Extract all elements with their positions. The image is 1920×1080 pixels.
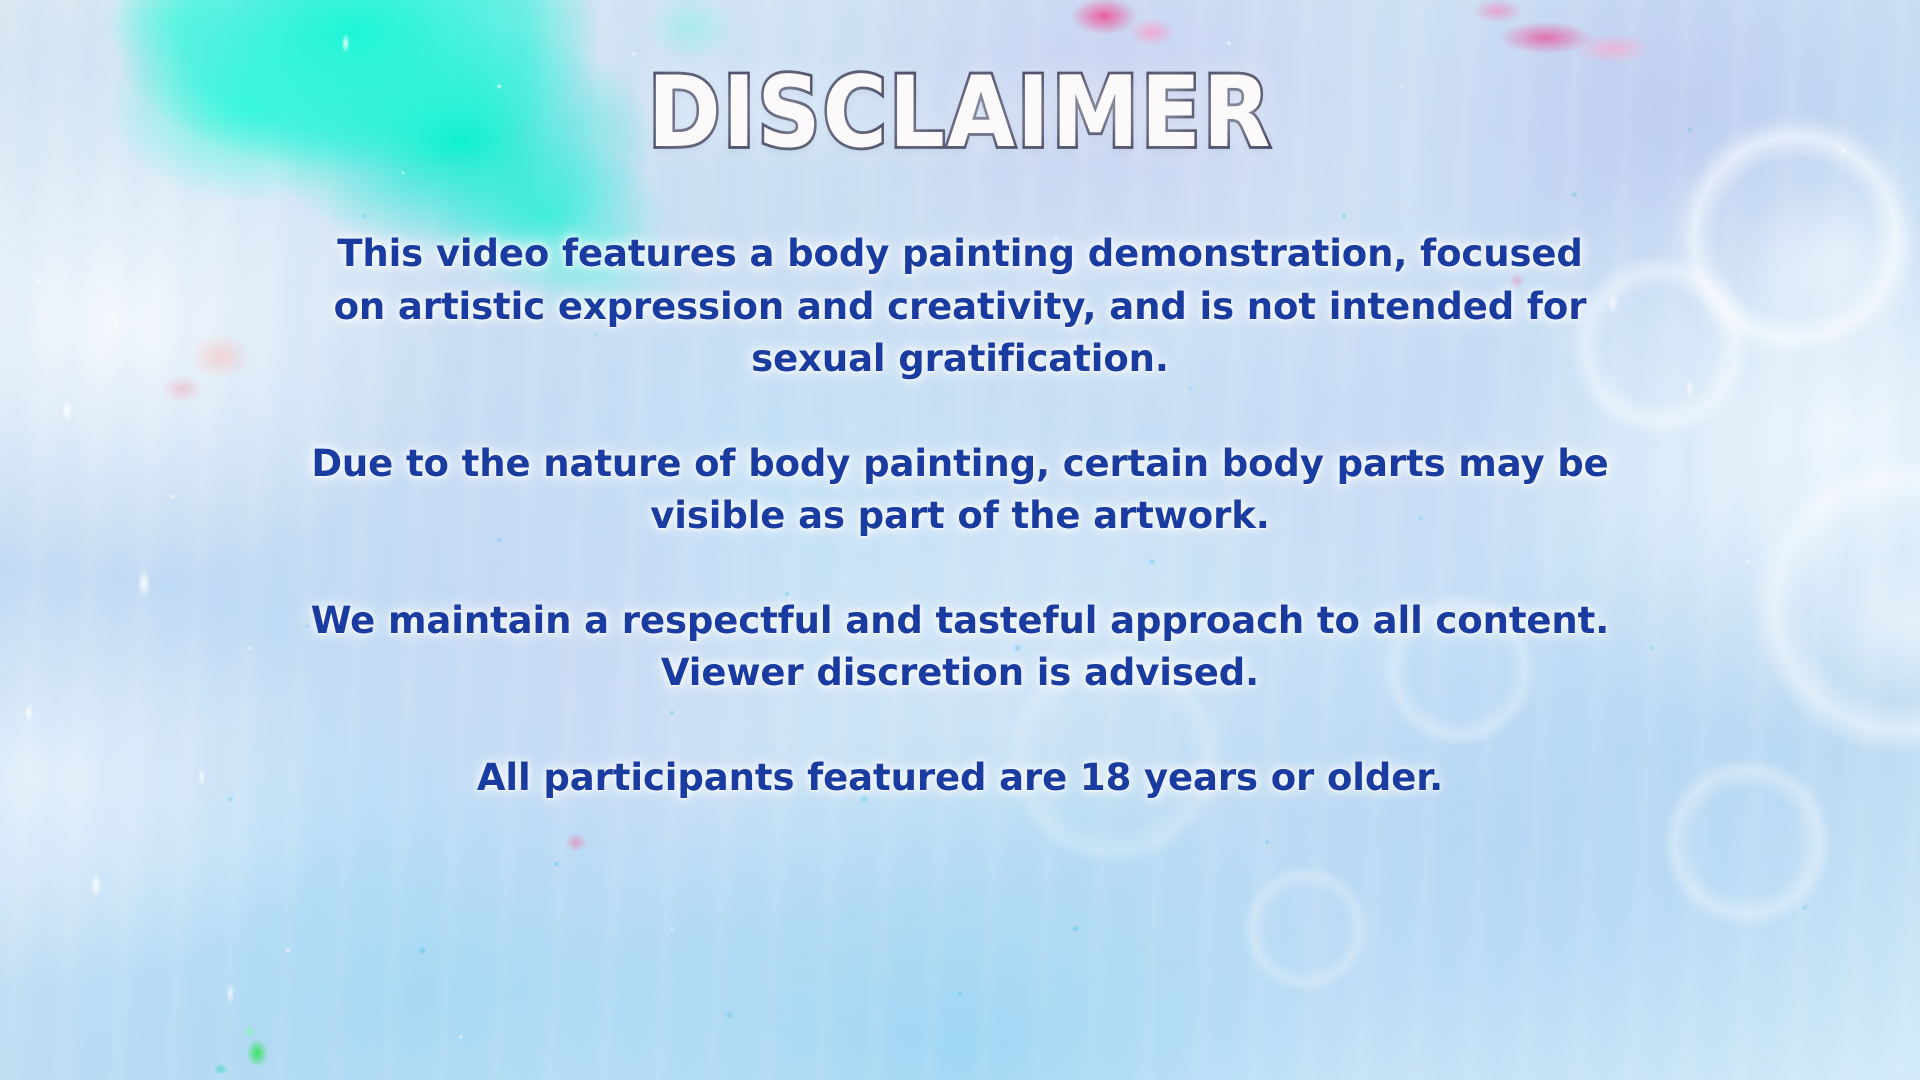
disclaimer-paragraph-1: This video features a body painting demo… [310, 228, 1610, 386]
disclaimer-paragraph-3: We maintain a respectful and tasteful ap… [310, 595, 1610, 700]
disclaimer-slide: DISCLAIMER This video features a body pa… [0, 0, 1920, 1080]
page-title: DISCLAIMER [648, 64, 1273, 162]
disclaimer-paragraph-2: Due to the nature of body painting, cert… [250, 438, 1670, 543]
disclaimer-body: This video features a body painting demo… [365, 228, 1555, 804]
disclaimer-paragraph-4: All participants featured are 18 years o… [410, 752, 1510, 805]
disclaimer-content: DISCLAIMER This video features a body pa… [0, 0, 1920, 1080]
title-container: DISCLAIMER [0, 64, 1920, 150]
